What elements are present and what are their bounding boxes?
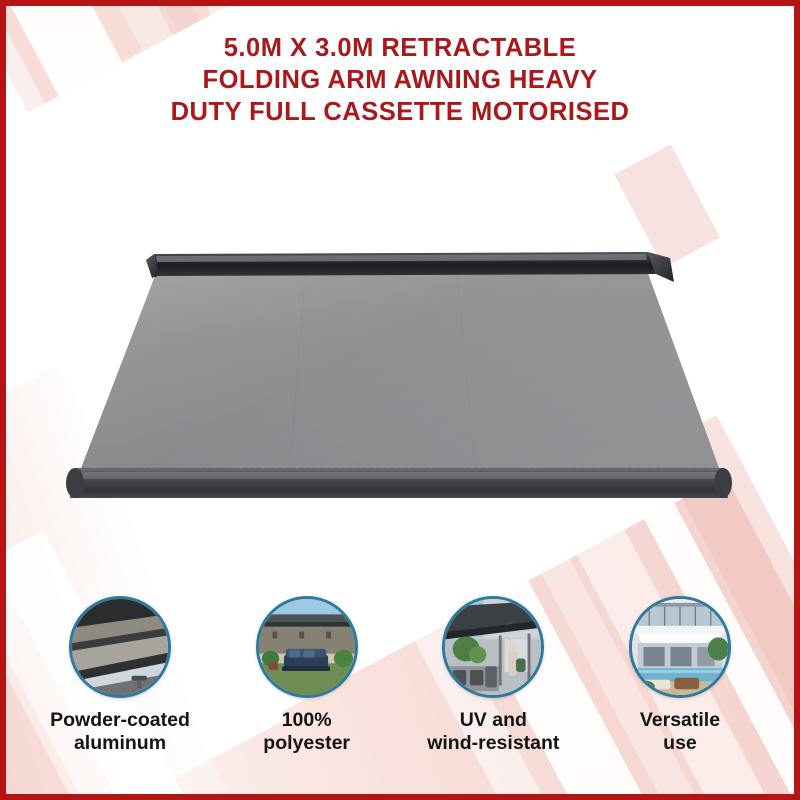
feature-badge-versatile-use[interactable]: Versatile use <box>592 596 768 776</box>
patio-sofa-awning-icon <box>256 596 358 698</box>
feature-badge-label: Powder-coated aluminum <box>50 709 190 755</box>
feature-badge-uv-wind-resistant[interactable]: UV and wind-resistant <box>405 596 581 776</box>
product-title: 5.0M X 3.0M RETRACTABLE FOLDING ARM AWNI… <box>6 32 794 128</box>
feature-badge-polyester[interactable]: 100% polyester <box>219 596 395 776</box>
feature-badge-powder-coated-aluminum[interactable]: Powder-coated aluminum <box>32 596 208 776</box>
feature-badge-label: UV and wind-resistant <box>427 709 559 755</box>
feature-badge-label: Versatile use <box>640 709 720 755</box>
product-title-line-1: 5.0M X 3.0M RETRACTABLE <box>6 32 794 64</box>
feature-badge-label: 100% polyester <box>263 709 350 755</box>
product-title-line-2: FOLDING ARM AWNING HEAVY <box>6 64 794 96</box>
feature-badge-row: Powder-coated aluminum <box>6 596 794 776</box>
outdoor-cafe-awning-icon <box>442 596 544 698</box>
awning-aluminum-closeup-icon <box>69 596 171 698</box>
product-listing-frame: 5.0M X 3.0M RETRACTABLE FOLDING ARM AWNI… <box>0 0 800 800</box>
modern-villa-pool-icon <box>629 596 731 698</box>
product-title-line-3: DUTY FULL CASSETTE MOTORISED <box>6 96 794 128</box>
